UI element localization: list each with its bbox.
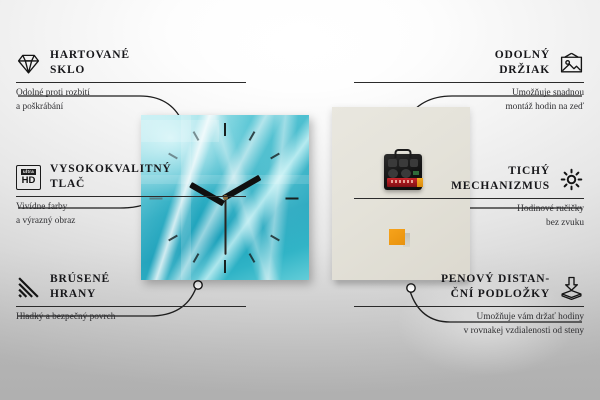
feature-description-line: Umožňuje snadnou (354, 87, 584, 100)
beveled-edge-icon (16, 275, 41, 300)
feature-description: Vivídne farby a výrazný obraz (16, 201, 246, 227)
feature-title-line: ODOLNÝ (495, 48, 550, 63)
feature-divider (354, 198, 584, 199)
feature-title-line: VYSOKOKVALITNÝ (50, 162, 172, 177)
clock-tick-3 (286, 198, 299, 200)
movement-hanger-hook (395, 149, 412, 158)
feature-title-line: BRÚSENÉ (50, 272, 110, 287)
feature-description: Umožňuje vám držať hodiny v rovnakej vzd… (354, 311, 584, 337)
feature-title: ODOLNÝ DRŽIAK (495, 48, 550, 78)
feature-description-line: Hladký a bezpečný povrch (16, 311, 246, 324)
feature-title-line: MECHANIZMUS (451, 179, 550, 194)
feature-title-line: HARTOVANÉ (50, 48, 130, 63)
feature-divider (16, 196, 246, 197)
feature-description: Odolné proti rozbití a poškrábání (16, 87, 246, 113)
feature-silent-mechanism: TICHÝ MECHANIZMUS Hodinové ručičky bez z… (354, 164, 584, 230)
feature-description: Umožňuje snadnou montáž hodin na zeď (354, 87, 584, 113)
feature-divider (16, 82, 246, 83)
feature-description-line: montáž hodin na zeď (354, 101, 584, 114)
ultra-hd-icon: ultra HD (16, 165, 41, 190)
product-infographic: HARTOVANÉ SKLO Odolné proti rozbití a po… (0, 0, 600, 400)
feature-description-line: Odolné proti rozbití (16, 87, 246, 100)
press-down-pad-icon (559, 275, 584, 300)
feature-divider (16, 306, 246, 307)
feature-title-line: TICHÝ (451, 164, 550, 179)
feature-title-line: ČNÍ PODLOŽKY (441, 287, 550, 302)
feature-divider (354, 82, 584, 83)
feature-title-line: TLAČ (50, 177, 172, 192)
gear-icon (559, 167, 584, 192)
feature-title-line: SKLO (50, 63, 130, 78)
feature-title-line: PENOVÝ DISTAN- (441, 272, 550, 287)
feature-description-line: v rovnakej vzdialenosti od steny (354, 325, 584, 338)
feature-description: Hodinové ručičky bez zvuku (354, 203, 584, 229)
feature-foam-spacers: PENOVÝ DISTAN- ČNÍ PODLOŽKY Umožňuje vám… (354, 272, 584, 338)
foam-spacer-pad (389, 229, 405, 245)
feature-description-line: Vivídne farby (16, 201, 246, 214)
feature-tempered-glass: HARTOVANÉ SKLO Odolné proti rozbití a po… (16, 48, 246, 114)
ultra-hd-icon-top-text: ultra (21, 169, 36, 175)
clock-tick-12 (224, 123, 226, 136)
feature-description-line: a poškrábání (16, 101, 246, 114)
diamond-icon (16, 51, 41, 76)
feature-description: Hladký a bezpečný povrch (16, 311, 246, 324)
feature-durable-hanger: ODOLNÝ DRŽIAK Umožňuje snadnou montáž ho… (354, 48, 584, 114)
feature-title-line: HRANY (50, 287, 110, 302)
feature-title: PENOVÝ DISTAN- ČNÍ PODLOŽKY (441, 272, 550, 302)
feature-description-line: a výrazný obraz (16, 215, 246, 228)
feature-title: VYSOKOKVALITNÝ TLAČ (50, 162, 172, 192)
feature-title: TICHÝ MECHANIZMUS (451, 164, 550, 194)
feature-divider (354, 306, 584, 307)
picture-frame-icon (559, 51, 584, 76)
feature-description-line: Hodinové ručičky (354, 203, 584, 216)
feature-title: BRÚSENÉ HRANY (50, 272, 110, 302)
feature-description-line: bez zvuku (354, 217, 584, 230)
feature-title: HARTOVANÉ SKLO (50, 48, 130, 78)
feature-ground-edges: BRÚSENÉ HRANY Hladký a bezpečný povrch (16, 272, 246, 325)
ultra-hd-icon-main-text: HD (22, 176, 36, 186)
feature-title-line: DRŽIAK (495, 63, 550, 78)
feature-description-line: Umožňuje vám držať hodiny (354, 311, 584, 324)
feature-high-quality-print: ultra HD VYSOKOKVALITNÝ TLAČ Vivídne far… (16, 162, 246, 228)
